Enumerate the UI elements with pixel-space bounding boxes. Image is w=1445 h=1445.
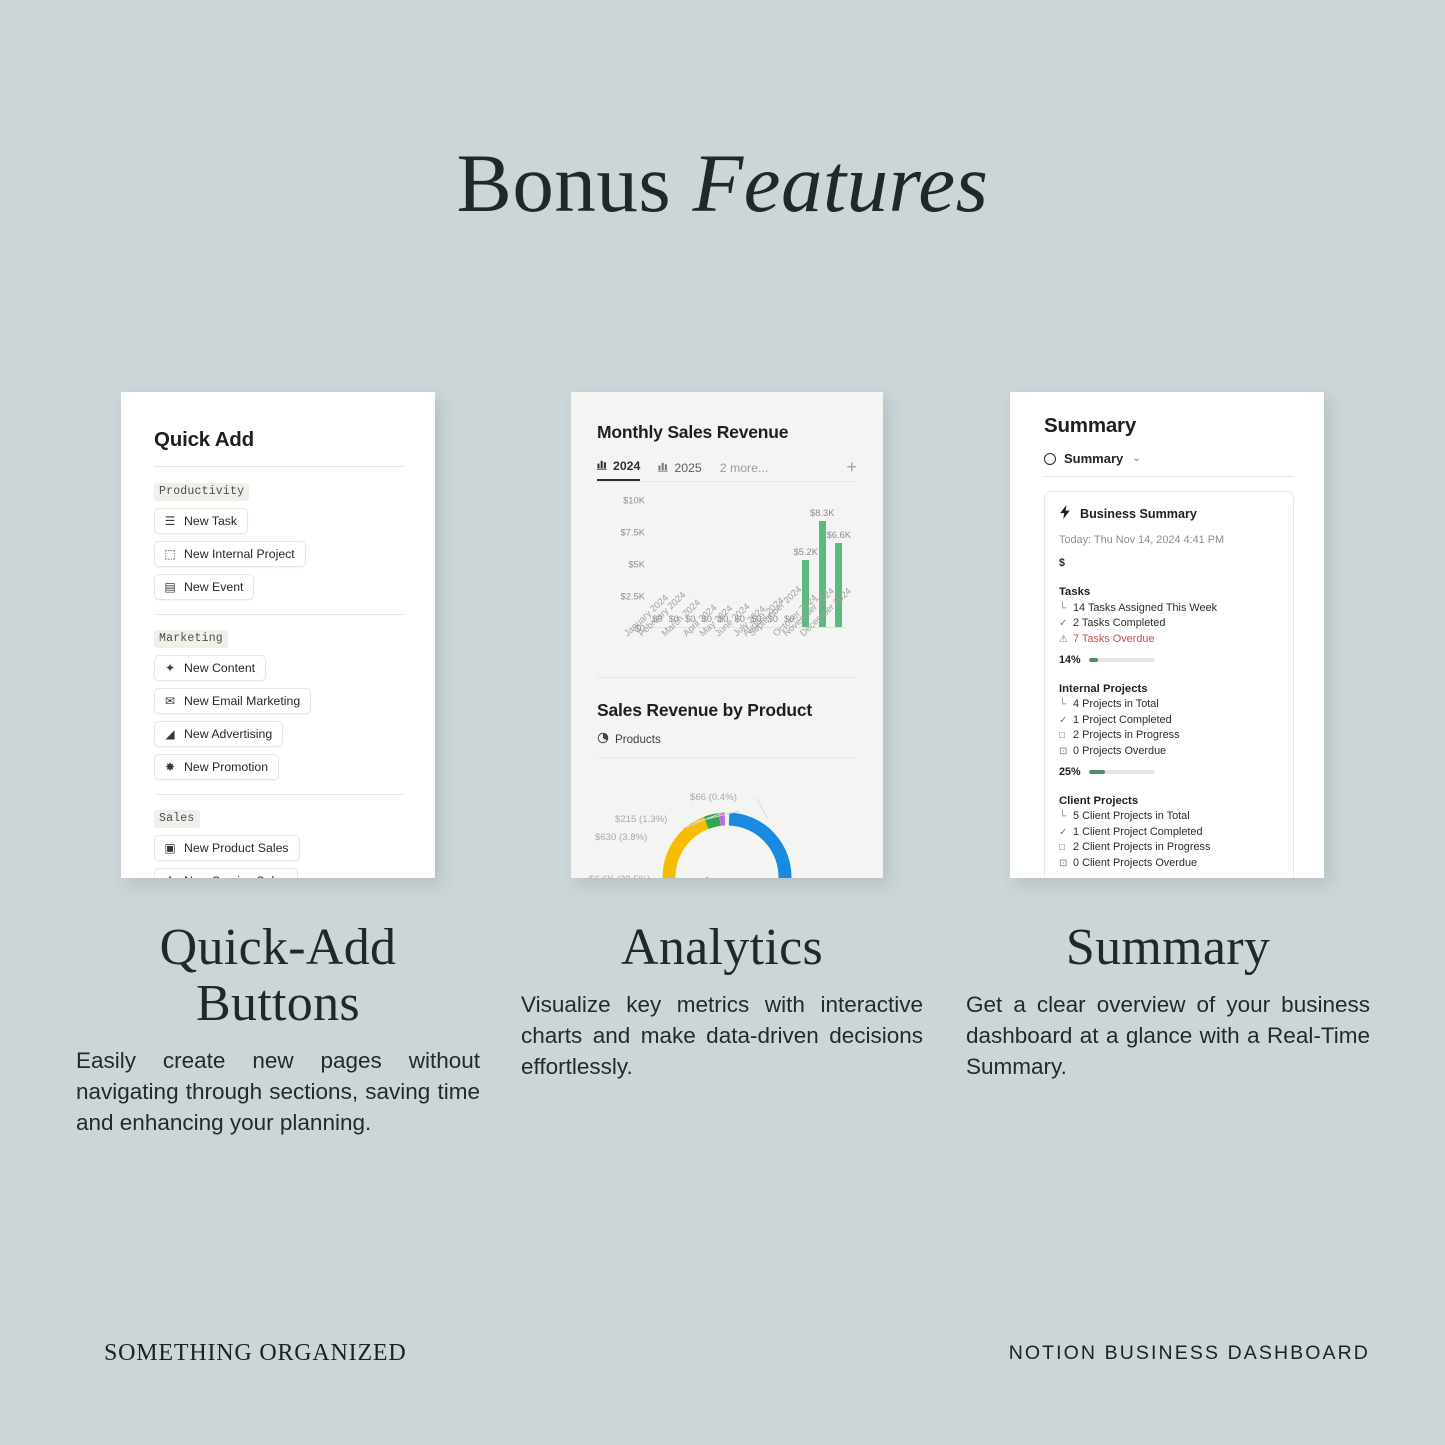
summary-list-item: ✓1 Project Completed xyxy=(1059,714,1279,726)
tab-2024-label: 2024 xyxy=(613,459,640,473)
summary-item-text: 0 Client Projects Overdue xyxy=(1073,857,1197,869)
caption-analytics: Analytics Visualize key metrics with int… xyxy=(521,920,923,1083)
quick-add-button-row: ☰New Task xyxy=(154,508,405,541)
summary-section: Tasks└14 Tasks Assigned This Week✓2 Task… xyxy=(1059,586,1279,666)
quick-add-button-list: ✦New Content✉New Email Marketing◢New Adv… xyxy=(154,655,405,787)
progress-percent-label: 25% xyxy=(1059,766,1081,778)
summary-progress: 14% xyxy=(1059,654,1279,666)
magic-wand-icon: ✦ xyxy=(163,662,177,674)
summary-sections: Tasks└14 Tasks Assigned This Week✓2 Task… xyxy=(1059,586,1279,878)
y-axis-tick: $5K xyxy=(628,559,645,570)
bolt-icon xyxy=(1059,505,1071,522)
add-view-icon[interactable]: + xyxy=(846,458,857,476)
business-summary-box: Business Summary Today: Thu Nov 14, 2024… xyxy=(1044,491,1294,878)
bullet-icon: ✓ xyxy=(1059,827,1068,838)
pin-icon: ♟ xyxy=(163,875,177,878)
caption-body: Easily create new pages without navigati… xyxy=(76,1046,480,1138)
divider xyxy=(1044,476,1294,477)
summary-item-text: 7 Tasks Overdue xyxy=(1073,633,1155,645)
quick-add-button-label: New Promotion xyxy=(184,760,268,774)
summary-view-selector[interactable]: Summary ⌄ xyxy=(1044,451,1294,466)
y-axis-tick: $7.5K xyxy=(621,527,646,538)
bullet-icon: └ xyxy=(1059,811,1068,822)
footer-product: NOTION BUSINESS DASHBOARD xyxy=(1009,1342,1370,1365)
business-summary-label: Business Summary xyxy=(1080,507,1197,521)
quick-add-button-row: ♟New Service Sales xyxy=(154,868,405,878)
banknote-icon: ▣ xyxy=(163,842,177,854)
monthly-sales-revenue-title: Monthly Sales Revenue xyxy=(597,422,857,443)
pie-source[interactable]: Products xyxy=(597,732,857,747)
summary-list-item: □2 Projects in Progress xyxy=(1059,729,1279,741)
summary-item-text: 2 Client Projects in Progress xyxy=(1073,841,1210,853)
page-title-italic: Features xyxy=(692,137,988,229)
quick-add-groups: Productivity☰New Task⬚New Internal Proje… xyxy=(154,481,405,878)
summary-view-label: Summary xyxy=(1064,451,1123,466)
x-axis-column: December 2024 xyxy=(831,628,848,668)
currency-symbol: $ xyxy=(1059,557,1279,569)
caption-heading: Summary xyxy=(966,920,1370,976)
quick-add-button[interactable]: ▤New Event xyxy=(154,574,254,600)
quick-add-button-label: New Task xyxy=(184,514,237,528)
summary-list-item: └14 Tasks Assigned This Week xyxy=(1059,602,1279,614)
progress-track xyxy=(1089,658,1155,662)
donut-label-4: $6.6K (39.5%) xyxy=(589,874,650,878)
bar-value-label: $6.6K xyxy=(827,530,851,540)
quick-add-group: Sales▣New Product Sales♟New Service Sale… xyxy=(154,808,405,878)
donut-label-2: $215 (1.3%) xyxy=(615,814,667,825)
summary-item-text: 2 Projects in Progress xyxy=(1073,729,1180,741)
summary-section-title: Internal Projects xyxy=(1059,683,1279,695)
bullet-icon: └ xyxy=(1059,699,1068,710)
monthly-sales-bar-chart: $0$2.5K$5K$7.5K$10K $0$0$0$0$0$0$0$0$0$5… xyxy=(597,500,857,665)
summary-item-text: 4 Projects in Total xyxy=(1073,698,1159,710)
y-axis-labels: $0$2.5K$5K$7.5K$10K xyxy=(597,500,645,628)
envelope-icon: ✉ xyxy=(163,695,177,707)
footer-brand: SOMETHING ORGANIZED xyxy=(104,1340,407,1367)
today-timestamp: Today: Thu Nov 14, 2024 4:41 PM xyxy=(1059,534,1279,546)
calendar-icon: ▤ xyxy=(163,581,177,593)
sitemap-icon: ⬚ xyxy=(163,548,177,560)
quick-add-button[interactable]: ☰New Task xyxy=(154,508,248,534)
quick-add-title: Quick Add xyxy=(154,428,405,452)
quick-add-button-list: ▣New Product Sales♟New Service Sales●●Ne… xyxy=(154,835,405,878)
summary-list-item: ⚠7 Tasks Overdue xyxy=(1059,633,1279,645)
quick-add-button-list: ☰New Task⬚New Internal Project▤New Event xyxy=(154,508,405,607)
progress-track xyxy=(1089,770,1155,774)
donut-label-1: $66 (0.4%) xyxy=(690,792,737,803)
megaphone-icon: ◢ xyxy=(163,728,177,740)
bullet-icon: □ xyxy=(1059,842,1068,853)
bullet-icon: ⊡ xyxy=(1059,746,1068,757)
circle-icon xyxy=(1044,453,1056,465)
summary-progress: 20% xyxy=(1059,878,1279,879)
chevron-down-icon[interactable]: ⌄ xyxy=(1132,453,1140,464)
checklist-icon: ☰ xyxy=(163,515,177,527)
pie-chart-icon xyxy=(597,732,609,747)
quick-add-button[interactable]: ▣New Product Sales xyxy=(154,835,300,861)
caption-body: Visualize key metrics with interactive c… xyxy=(521,990,923,1082)
summary-list-item: └5 Client Projects in Total xyxy=(1059,810,1279,822)
bar-chart-icon xyxy=(597,459,608,473)
page-title: Bonus Features xyxy=(0,0,1445,225)
donut-center-total: $17K xyxy=(701,874,754,878)
bullet-icon: └ xyxy=(1059,603,1068,614)
divider xyxy=(154,614,405,615)
caption-summary: Summary Get a clear overview of your bus… xyxy=(966,920,1370,1083)
quick-add-button-row: ▣New Product Sales xyxy=(154,835,405,868)
feature-cards-row: Quick Add Productivity☰New Task⬚New Inte… xyxy=(0,392,1445,878)
tab-2025-label: 2025 xyxy=(674,461,701,475)
divider xyxy=(597,757,857,758)
quick-add-button-row: ✸New Promotion xyxy=(154,754,405,787)
quick-add-group-label: Productivity xyxy=(154,483,249,501)
summary-item-text: 2 Tasks Completed xyxy=(1073,617,1165,629)
bullet-icon: ✓ xyxy=(1059,618,1068,629)
warning-icon: ⚠ xyxy=(1059,634,1068,645)
quick-add-group: Marketing✦New Content✉New Email Marketin… xyxy=(154,628,405,795)
captions-row: Quick-Add Buttons Easily create new page… xyxy=(0,920,1445,1120)
summary-list-item: ✓2 Tasks Completed xyxy=(1059,617,1279,629)
caption-body: Get a clear overview of your business da… xyxy=(966,990,1370,1082)
summary-item-text: 14 Tasks Assigned This Week xyxy=(1073,602,1217,614)
summary-item-text: 5 Client Projects in Total xyxy=(1073,810,1190,822)
quick-add-button-label: New Email Marketing xyxy=(184,694,300,708)
summary-section: Client Projects└5 Client Projects in Tot… xyxy=(1059,795,1279,879)
caption-quick-add: Quick-Add Buttons Easily create new page… xyxy=(76,920,480,1139)
quick-add-group-label: Marketing xyxy=(154,630,228,648)
caption-heading: Analytics xyxy=(521,920,923,976)
quick-add-button-row: ✉New Email Marketing xyxy=(154,688,405,721)
bullet-icon: ⊡ xyxy=(1059,858,1068,869)
summary-item-text: 1 Project Completed xyxy=(1073,714,1172,726)
progress-percent-label: 20% xyxy=(1059,878,1081,879)
pie-source-label: Products xyxy=(615,733,661,746)
summary-card: Summary Summary ⌄ Business Summary Today… xyxy=(1010,392,1324,878)
more-views-label[interactable]: 2 more... xyxy=(720,461,769,481)
quick-add-group-label: Sales xyxy=(154,810,200,828)
divider xyxy=(154,794,405,795)
tab-2024[interactable]: 2024 xyxy=(597,459,640,481)
quick-add-button-row: ◢New Advertising xyxy=(154,721,405,754)
bullet-icon: □ xyxy=(1059,730,1068,741)
donut-label-3: $630 (3.8%) xyxy=(595,832,647,843)
summary-section-title: Client Projects xyxy=(1059,795,1279,807)
x-axis-labels: January 2024February 2024March 2024April… xyxy=(649,628,847,668)
y-axis-tick: $10K xyxy=(623,495,645,506)
quick-add-button[interactable]: ✦New Content xyxy=(154,655,266,681)
quick-add-button-label: New Content xyxy=(184,661,255,675)
x-axis-column: November 2024 xyxy=(814,628,831,668)
progress-fill xyxy=(1089,770,1106,774)
badge-icon: ✸ xyxy=(163,761,177,773)
quick-add-card: Quick Add Productivity☰New Task⬚New Inte… xyxy=(121,392,435,878)
quick-add-button-label: New Advertising xyxy=(184,727,272,741)
summary-section-title: Tasks xyxy=(1059,586,1279,598)
quick-add-button[interactable]: ⬚New Internal Project xyxy=(154,541,306,567)
chart-view-tabs: 2024 2025 2 more... + xyxy=(597,455,857,482)
y-axis-tick: $2.5K xyxy=(621,591,646,602)
summary-list-item: □2 Client Projects in Progress xyxy=(1059,841,1279,853)
quick-add-button[interactable]: ✸New Promotion xyxy=(154,754,279,780)
quick-add-button-label: New Internal Project xyxy=(184,547,295,561)
quick-add-button-row: ▤New Event xyxy=(154,574,405,607)
summary-item-text: 1 Client Project Completed xyxy=(1073,826,1203,838)
summary-list-item: ✓1 Client Project Completed xyxy=(1059,826,1279,838)
quick-add-button-row: ✦New Content xyxy=(154,655,405,688)
quick-add-button-label: New Service Sales xyxy=(184,874,287,878)
caption-heading: Quick-Add Buttons xyxy=(76,920,480,1032)
analytics-card: Monthly Sales Revenue 2024 2025 xyxy=(571,392,883,878)
quick-add-button[interactable]: ♟New Service Sales xyxy=(154,868,298,878)
summary-section: Internal Projects└4 Projects in Total✓1 … xyxy=(1059,683,1279,778)
progress-fill xyxy=(1089,658,1098,662)
summary-title: Summary xyxy=(1044,414,1294,438)
summary-progress: 25% xyxy=(1059,766,1279,778)
summary-list-item: ⊡0 Client Projects Overdue xyxy=(1059,857,1279,869)
quick-add-button[interactable]: ✉New Email Marketing xyxy=(154,688,311,714)
bar[interactable] xyxy=(835,543,842,627)
divider xyxy=(154,466,405,467)
business-summary-header: Business Summary xyxy=(1059,505,1279,522)
progress-percent-label: 14% xyxy=(1059,654,1081,666)
page-title-regular: Bonus xyxy=(457,137,693,229)
donut-chart: $17K $66 (0.4%) $215 (1.3%) $630 (3.8%) … xyxy=(597,776,857,878)
sales-revenue-by-product-title: Sales Revenue by Product xyxy=(597,700,857,721)
bar-chart-icon xyxy=(658,461,669,475)
tab-2025[interactable]: 2025 xyxy=(658,461,701,481)
bullet-icon: ✓ xyxy=(1059,715,1068,726)
quick-add-button[interactable]: ◢New Advertising xyxy=(154,721,283,747)
divider xyxy=(597,677,857,678)
summary-list-item: ⊡0 Projects Overdue xyxy=(1059,745,1279,757)
summary-item-text: 0 Projects Overdue xyxy=(1073,745,1166,757)
quick-add-group: Productivity☰New Task⬚New Internal Proje… xyxy=(154,481,405,615)
quick-add-button-label: New Product Sales xyxy=(184,841,289,855)
summary-list-item: └4 Projects in Total xyxy=(1059,698,1279,710)
quick-add-button-row: ⬚New Internal Project xyxy=(154,541,405,574)
quick-add-button-label: New Event xyxy=(184,580,243,594)
